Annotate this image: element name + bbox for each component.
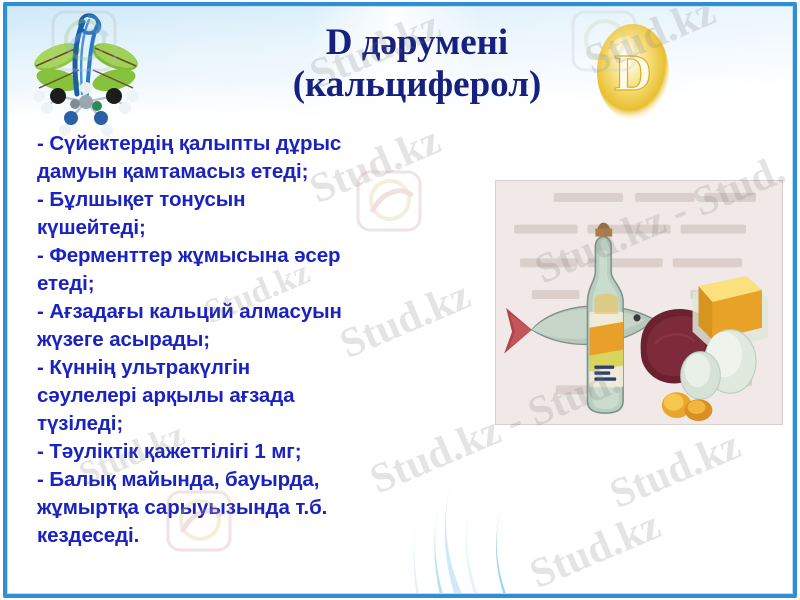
slide: D D дәрумені (кальциферол) <box>0 0 800 600</box>
inner-border <box>7 6 793 594</box>
